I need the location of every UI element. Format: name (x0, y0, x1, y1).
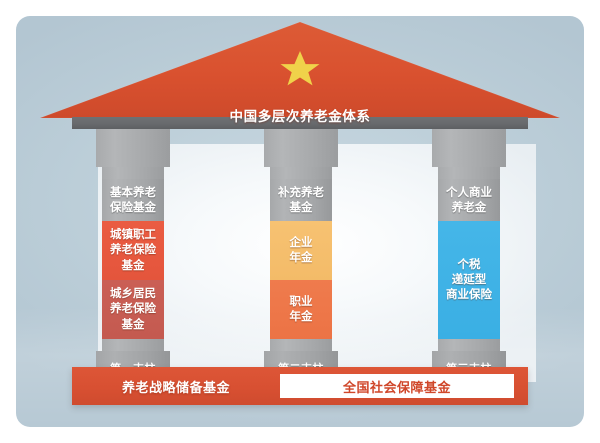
pillar-capital (96, 129, 170, 167)
fund-block-line: 养老保险 (110, 302, 156, 317)
page-title: 中国多层次养老金体系 (40, 105, 560, 125)
pillar-heading-line: 个人商业 (440, 186, 498, 201)
fund-block-occupational-annuity[interactable]: 职业 年金 (270, 280, 332, 339)
pillar-capital (432, 129, 506, 167)
pillar-heading-line: 补充养老 (272, 186, 330, 201)
pillar-heading-line: 养老金 (440, 201, 498, 216)
fund-block-enterprise-annuity[interactable]: 企业 年金 (270, 221, 332, 280)
pillar-second[interactable]: 补充养老 基金 企业 年金 职业 年金 第二支柱 (264, 129, 338, 385)
pillar-heading: 补充养老 基金 (270, 179, 332, 221)
pillar-upper-neck (438, 167, 500, 179)
fund-block-line: 递延型 (446, 273, 492, 288)
pillar-capital (264, 129, 338, 167)
pillar-heading-line: 基本养老 (104, 186, 162, 201)
fund-block-line: 养老保险 (110, 243, 156, 258)
roof-pediment: 中国多层次养老金体系 (40, 22, 560, 122)
pillar-upper-neck (102, 167, 164, 179)
pillar-heading-line: 保险基金 (104, 201, 162, 216)
pillar-heading: 个人商业 养老金 (438, 179, 500, 221)
national-social-security-fund-box[interactable]: 全国社会保障基金 (280, 374, 514, 398)
fund-block-line: 商业保险 (446, 288, 492, 303)
pillar-lower-neck (102, 339, 164, 351)
pillar-shaft: 基本养老 保险基金 城镇职工 养老保险 基金 城乡居民 养老保险 基金 (102, 179, 164, 339)
pillar-shaft: 补充养老 基金 企业 年金 职业 年金 (270, 179, 332, 339)
pillar-shaft: 个人商业 养老金 个税 递延型 商业保险 (438, 179, 500, 339)
fund-block-tax-deferred-insurance[interactable]: 个税 递延型 商业保险 (438, 221, 500, 339)
pillar-heading-line: 基金 (272, 201, 330, 216)
national-social-security-fund-label: 全国社会保障基金 (343, 377, 451, 396)
fund-block-line: 城镇职工 (110, 228, 156, 243)
pillar-heading: 基本养老 保险基金 (102, 179, 164, 221)
pillar-lower-neck (270, 339, 332, 351)
fund-block-urban-worker[interactable]: 城镇职工 养老保险 基金 (102, 221, 164, 280)
fund-block-line: 职业 (290, 295, 313, 310)
pillar-third[interactable]: 个人商业 养老金 个税 递延型 商业保险 第三支柱 (432, 129, 506, 385)
fund-block-line: 城乡居民 (110, 287, 156, 302)
fund-block-line: 个税 (446, 258, 492, 273)
foundation-bar: 养老战略储备基金 全国社会保障基金 (72, 367, 528, 405)
strategic-reserve-fund-label: 养老战略储备基金 (72, 377, 280, 396)
fund-block-line: 年金 (290, 310, 313, 325)
pillar-lower-neck (438, 339, 500, 351)
fund-block-line: 基金 (110, 259, 156, 274)
fund-block-line: 年金 (290, 251, 313, 266)
fund-block-line: 企业 (290, 236, 313, 251)
fund-block-resident[interactable]: 城乡居民 养老保险 基金 (102, 280, 164, 339)
pillar-first[interactable]: 基本养老 保险基金 城镇职工 养老保险 基金 城乡居民 养老保险 基金 第一支柱 (96, 129, 170, 385)
pillar-upper-neck (270, 167, 332, 179)
fund-block-line: 基金 (110, 318, 156, 333)
infographic-canvas: 中国多层次养老金体系 基本养老 保险基金 城镇职工 养老保险 基金 城乡居民 养 (0, 0, 600, 443)
